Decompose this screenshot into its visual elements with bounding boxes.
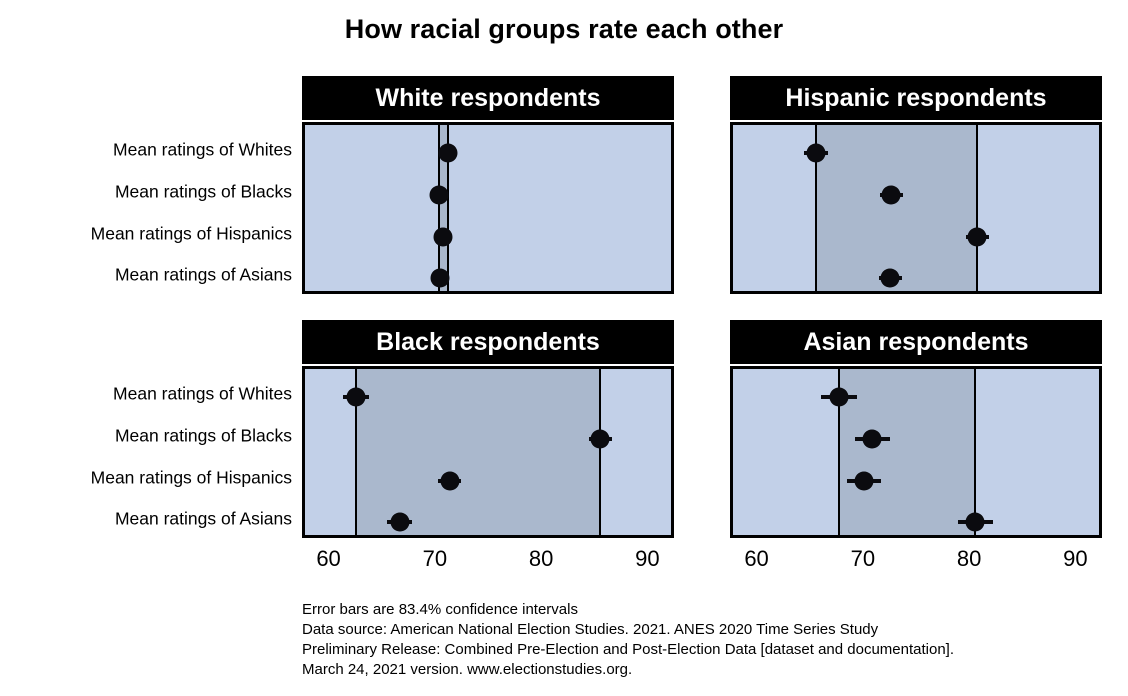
panel-title-hispanic-respondents: Hispanic respondents — [730, 76, 1102, 120]
y-axis-tick-label: Mean ratings of Asians — [115, 265, 292, 286]
x-axis-right-column: 60708090 — [730, 546, 1102, 576]
reference-band-black-respondents — [356, 369, 600, 535]
footnote-line: Preliminary Release: Combined Pre-Electi… — [302, 640, 954, 660]
y-axis-tick-label: Mean ratings of Blacks — [115, 182, 292, 203]
data-point — [881, 269, 900, 288]
panel-title-white-respondents: White respondents — [302, 76, 674, 120]
y-axis-tick-label: Mean ratings of Whites — [113, 384, 292, 405]
page-title: How racial groups rate each other — [0, 14, 1128, 45]
footnote-line: March 24, 2021 version. www.electionstud… — [302, 660, 954, 680]
x-axis-tick-label: 60 — [316, 546, 340, 572]
data-point — [434, 228, 453, 247]
y-axis-tick-label: Mean ratings of Asians — [115, 509, 292, 530]
data-point — [806, 144, 825, 163]
data-point — [429, 186, 448, 205]
y-axis-labels-top-row: Mean ratings of WhitesMean ratings of Bl… — [0, 122, 292, 294]
footnote-block: Error bars are 83.4% confidence interval… — [302, 600, 954, 680]
footnote-line: Error bars are 83.4% confidence interval… — [302, 600, 954, 620]
plot-area-hispanic-respondents — [730, 122, 1102, 294]
y-axis-tick-label: Mean ratings of Hispanics — [91, 468, 292, 489]
x-axis-left-column: 60708090 — [302, 546, 674, 576]
footnote-line: Data source: American National Election … — [302, 620, 954, 640]
data-point — [591, 430, 610, 449]
plot-area-black-respondents — [302, 366, 674, 538]
x-axis-tick-label: 60 — [744, 546, 768, 572]
y-axis-labels-bottom-row: Mean ratings of WhitesMean ratings of Bl… — [0, 366, 292, 538]
reference-band-asian-respondents — [839, 369, 975, 535]
data-point — [863, 430, 882, 449]
y-axis-tick-label: Mean ratings of Hispanics — [91, 224, 292, 245]
y-axis-tick-label: Mean ratings of Whites — [113, 140, 292, 161]
data-point — [882, 186, 901, 205]
x-axis-tick-label: 90 — [1063, 546, 1087, 572]
x-axis-tick-label: 80 — [529, 546, 553, 572]
reference-line-high-black-respondents — [599, 369, 601, 535]
data-point — [439, 144, 458, 163]
x-axis-tick-label: 80 — [957, 546, 981, 572]
data-point — [390, 513, 409, 532]
x-axis-tick-label: 70 — [423, 546, 447, 572]
data-point — [966, 513, 985, 532]
x-axis-tick-label: 70 — [851, 546, 875, 572]
reference-line-high-asian-respondents — [974, 369, 976, 535]
panel-title-black-respondents: Black respondents — [302, 320, 674, 364]
y-axis-tick-label: Mean ratings of Blacks — [115, 426, 292, 447]
data-point — [854, 472, 873, 491]
data-point — [440, 472, 459, 491]
data-point — [347, 388, 366, 407]
chart-figure: How racial groups rate each other Mean r… — [0, 0, 1128, 696]
panel-title-asian-respondents: Asian respondents — [730, 320, 1102, 364]
plot-area-white-respondents — [302, 122, 674, 294]
plot-area-asian-respondents — [730, 366, 1102, 538]
data-point — [430, 269, 449, 288]
data-point — [830, 388, 849, 407]
data-point — [968, 228, 987, 247]
reference-band-hispanic-respondents — [816, 125, 978, 291]
reference-line-high-hispanic-respondents — [976, 125, 978, 291]
x-axis-tick-label: 90 — [635, 546, 659, 572]
